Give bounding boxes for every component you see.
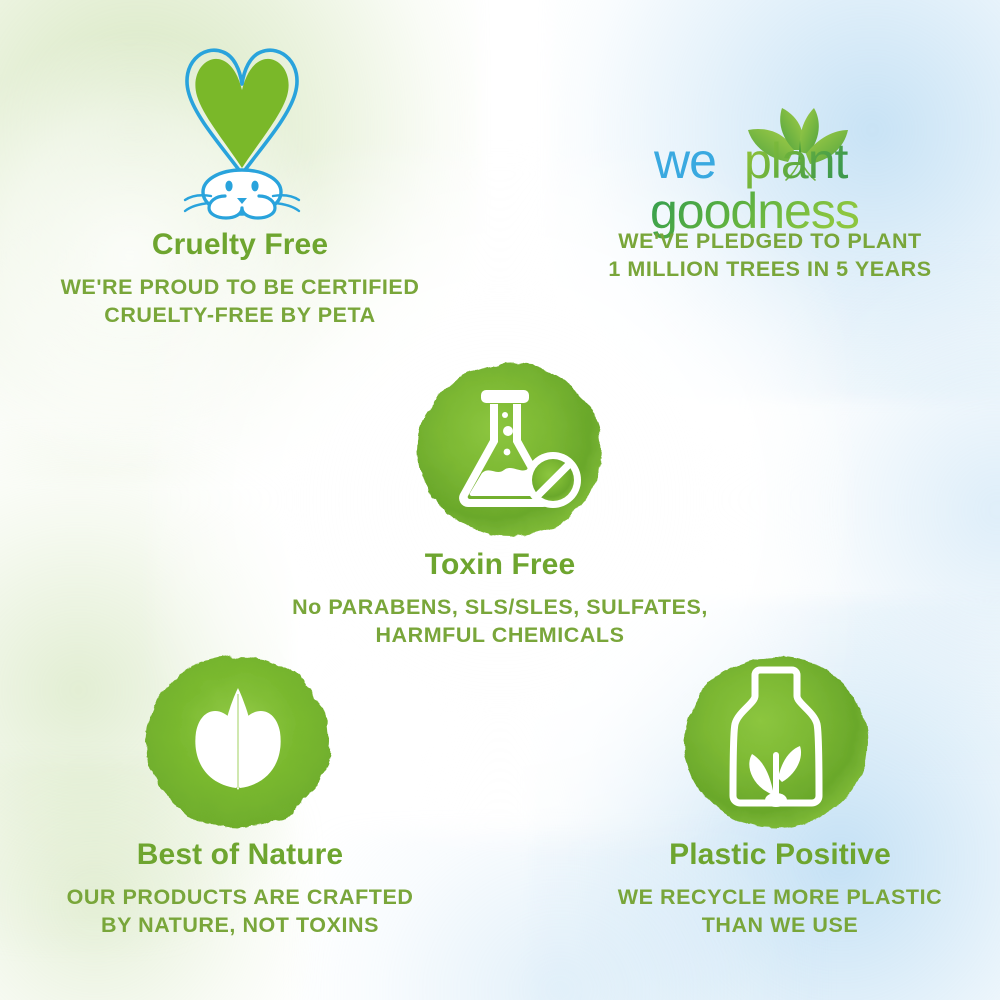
card-plastic-positive: Plastic Positive WE RECYCLE MORE PLASTIC… bbox=[570, 838, 990, 939]
watercolor-blob bbox=[418, 364, 602, 536]
card-best-of-nature-title: Best of Nature bbox=[30, 838, 450, 872]
infographic-canvas: Cruelty Free WE'RE PROUD TO BE CERTIFIED… bbox=[0, 0, 1000, 1000]
card-we-plant-goodness-subtitle: WE'VE PLEDGED TO PLANT 1 MILLION TREES I… bbox=[555, 228, 985, 284]
peta-cruelty-free-bunny-icon bbox=[163, 38, 321, 220]
logo-word-plant: plant bbox=[744, 133, 849, 189]
card-plastic-positive-subtitle: WE RECYCLE MORE PLASTIC THAN WE USE bbox=[570, 884, 990, 940]
card-toxin-free: Toxin Free No PARABENS, SLS/SLES, SULFAT… bbox=[275, 548, 725, 649]
logo-word-we: we bbox=[653, 133, 716, 189]
card-toxin-free-title: Toxin Free bbox=[275, 548, 725, 582]
bunny-eye-left bbox=[225, 181, 232, 192]
we-plant-goodness-icon: we plant goodness bbox=[648, 100, 948, 240]
bunny-eye-right bbox=[251, 181, 258, 192]
card-cruelty-free-title: Cruelty Free bbox=[15, 228, 465, 262]
card-we-plant-goodness: WE'VE PLEDGED TO PLANT 1 MILLION TREES I… bbox=[555, 228, 985, 284]
card-cruelty-free-subtitle: WE'RE PROUD TO BE CERTIFIED CRUELTY-FREE… bbox=[15, 274, 465, 330]
card-toxin-free-subtitle: No PARABENS, SLS/SLES, SULFATES, HARMFUL… bbox=[275, 594, 725, 650]
toxin-free-badge bbox=[412, 356, 608, 544]
best-of-nature-badge bbox=[140, 648, 336, 836]
card-cruelty-free: Cruelty Free WE'RE PROUD TO BE CERTIFIED… bbox=[15, 228, 465, 329]
card-best-of-nature: Best of Nature OUR PRODUCTS ARE CRAFTED … bbox=[30, 838, 450, 939]
card-best-of-nature-subtitle: OUR PRODUCTS ARE CRAFTED BY NATURE, NOT … bbox=[30, 884, 450, 940]
card-plastic-positive-title: Plastic Positive bbox=[570, 838, 990, 872]
plastic-positive-badge bbox=[678, 648, 874, 836]
prohibition-no-icon bbox=[525, 452, 581, 508]
